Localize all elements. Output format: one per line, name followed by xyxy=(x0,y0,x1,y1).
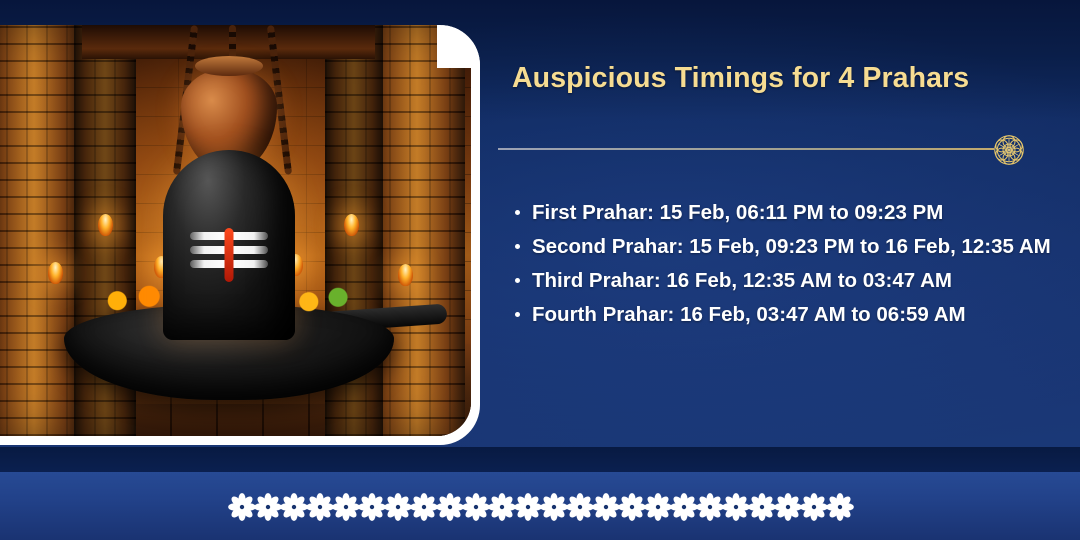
carved-stone-pillars-icon xyxy=(0,25,82,436)
eight-petal-flower-icon xyxy=(670,493,698,521)
eight-petal-flower-icon xyxy=(436,493,464,521)
tripundra-tilak-icon xyxy=(190,226,268,284)
eight-petal-flower-icon xyxy=(332,493,360,521)
eight-petal-flower-icon xyxy=(592,493,620,521)
list-item: First Prahar: 15 Feb, 06:11 PM to 09:23 … xyxy=(508,196,1064,229)
eight-petal-flower-icon xyxy=(462,493,490,521)
eight-petal-flower-icon xyxy=(566,493,594,521)
prahar-list: First Prahar: 15 Feb, 06:11 PM to 09:23 … xyxy=(508,196,1064,332)
shiva-lingam-icon xyxy=(163,150,295,340)
poster: Auspicious Timings for 4 Prahars xyxy=(0,0,1080,540)
page-title: Auspicious Timings for 4 Prahars xyxy=(512,62,1052,95)
eight-petal-flower-icon xyxy=(358,493,386,521)
eight-petal-flower-icon xyxy=(306,493,334,521)
oil-lamps-icon xyxy=(98,214,113,236)
eight-petal-flower-icon xyxy=(696,493,724,521)
eight-petal-flower-icon xyxy=(748,493,776,521)
footer-dark-band xyxy=(0,447,1080,473)
eight-petal-flower-icon xyxy=(280,493,308,521)
eight-petal-flower-icon xyxy=(618,493,646,521)
eight-petal-flower-icon xyxy=(644,493,672,521)
eight-petal-flower-icon xyxy=(722,493,750,521)
list-item: Third Prahar: 16 Feb, 12:35 AM to 03:47 … xyxy=(508,264,1064,297)
divider-line xyxy=(498,148,994,150)
list-item: Second Prahar: 15 Feb, 09:23 PM to 16 Fe… xyxy=(508,230,1064,263)
eight-petal-flower-icon xyxy=(488,493,516,521)
eight-petal-flower-icon xyxy=(228,493,256,521)
frame-notch-top-right xyxy=(393,25,471,97)
eight-petal-flower-icon xyxy=(540,493,568,521)
oil-lamps-icon xyxy=(344,214,359,236)
eight-petal-flower-icon xyxy=(826,493,854,521)
photo-frame xyxy=(0,25,480,445)
frame-notch-bottom-right xyxy=(393,364,471,436)
list-item: Fourth Prahar: 16 Feb, 03:47 AM to 06:59… xyxy=(508,298,1064,331)
eight-petal-flower-icon xyxy=(254,493,282,521)
eight-petal-flower-icon xyxy=(384,493,412,521)
footer-ornament-row xyxy=(228,485,852,529)
oil-lamps-icon xyxy=(398,264,413,286)
eight-petal-flower-icon xyxy=(774,493,802,521)
divider xyxy=(498,138,1058,160)
oil-lamps-icon xyxy=(48,262,63,284)
eight-petal-flower-icon xyxy=(800,493,828,521)
eight-petal-flower-icon xyxy=(410,493,438,521)
eight-petal-flower-icon xyxy=(514,493,542,521)
mandala-icon xyxy=(986,127,1032,173)
temple-scene xyxy=(0,25,471,436)
temple-photo xyxy=(0,25,471,436)
